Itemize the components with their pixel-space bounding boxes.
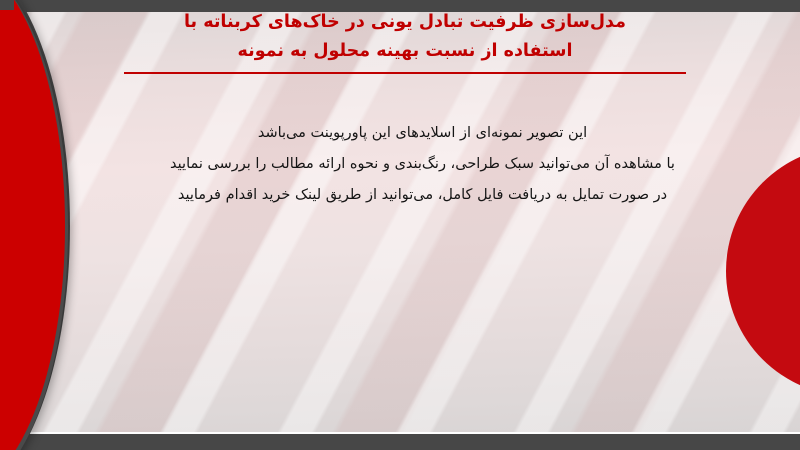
title-underline-rule <box>124 72 686 74</box>
slide-content: مدل‌سازی ظرفیت تبادل یونی در خاک‌های کرب… <box>0 0 800 450</box>
body-line-3: در صورت تمایل به دریافت فایل کامل، می‌تو… <box>140 180 705 211</box>
body-line-1: این تصویر نمونه‌ای از اسلایدهای این پاور… <box>140 118 705 149</box>
slide-body-text: این تصویر نمونه‌ای از اسلایدهای این پاور… <box>140 118 705 211</box>
body-line-2: با مشاهده آن می‌توانید سبک طراحی، رنگ‌بن… <box>140 149 705 180</box>
slide-title: مدل‌سازی ظرفیت تبادل یونی در خاک‌های کرب… <box>115 8 695 74</box>
slide-title-line-2: استفاده از نسبت بهینه محلول به نمونه <box>115 37 695 66</box>
presentation-slide: مدل‌سازی ظرفیت تبادل یونی در خاک‌های کرب… <box>0 0 800 450</box>
slide-title-line-1: مدل‌سازی ظرفیت تبادل یونی در خاک‌های کرب… <box>115 8 695 37</box>
